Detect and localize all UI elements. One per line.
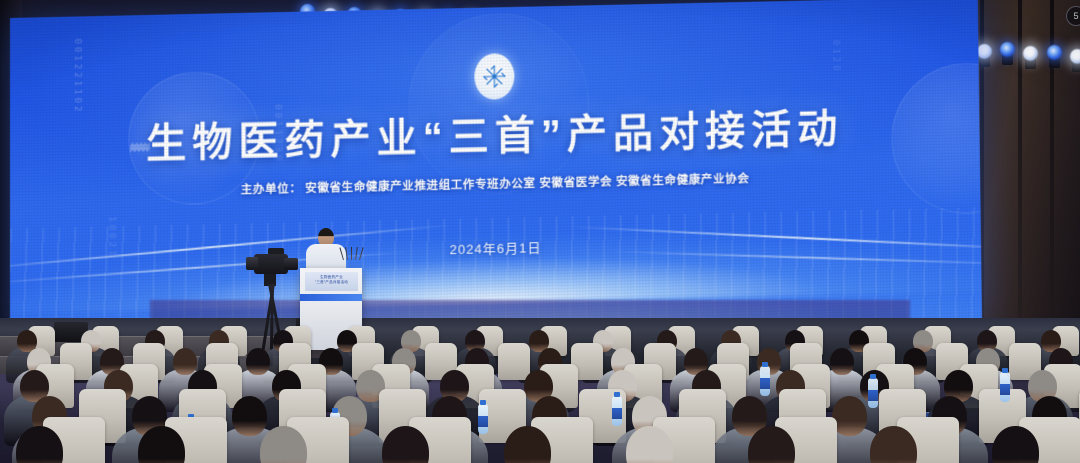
microphone (351, 247, 352, 260)
bottle-label (868, 390, 878, 401)
audience-head (246, 348, 270, 375)
audience-head (173, 348, 197, 375)
camera-viewfinder (246, 257, 258, 270)
audience-head (232, 396, 267, 436)
podium-plate-line2: “三首”产品对接活动 (305, 280, 358, 285)
conference-photo: ⦚⦚⦚⦚⦚ 001221102 0011230 10021 0120 (0, 0, 1080, 463)
water-bottle (478, 404, 488, 434)
water-bottle (760, 366, 770, 396)
bottle-label (1000, 384, 1010, 395)
water-bottle (1000, 372, 1010, 402)
led-stage-screen: ⦚⦚⦚⦚⦚ 001221102 0011230 10021 0120 (10, 0, 982, 349)
camera-lens (284, 258, 298, 270)
microphone (355, 247, 358, 260)
bottle-cap (614, 392, 620, 397)
microphone (339, 247, 344, 260)
water-bottle (868, 378, 878, 408)
water-bottle (612, 396, 622, 426)
podium-nameplate: 生物医药产业 “三首”产品对接活动 (305, 272, 358, 291)
corner-badge: 5 (1066, 6, 1080, 26)
wall-column (1050, 0, 1054, 330)
microphone (345, 247, 348, 260)
bottle-cap (480, 400, 486, 405)
audience-head (830, 348, 854, 375)
audience-chair (498, 343, 530, 380)
audience-head (832, 396, 867, 436)
wall-column (1018, 0, 1022, 330)
bottle-cap (762, 362, 768, 367)
bottle-cap (870, 374, 876, 379)
bottle-cap (1002, 368, 1008, 373)
bottle-label (478, 416, 488, 427)
bottle-cap (332, 408, 338, 413)
bottle-label (612, 408, 622, 419)
bottle-label (760, 378, 770, 389)
microphone-cluster (341, 246, 363, 260)
audience-area: 安徽省生命健康产业“三首”产品对接活动 谢栋栋 (0, 300, 1080, 463)
camera-body (254, 254, 288, 274)
